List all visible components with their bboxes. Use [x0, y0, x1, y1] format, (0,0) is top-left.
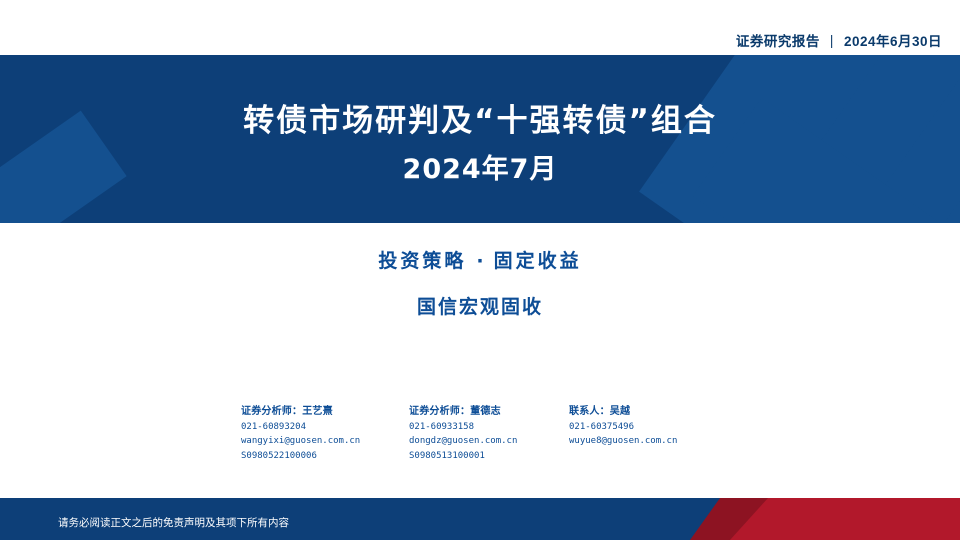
page-subtitle: 2024年7月 — [0, 147, 960, 186]
footer-accent-red — [730, 498, 960, 540]
category-fixed-income: 固定收益 — [494, 250, 582, 272]
category-separator-dot: · — [466, 250, 493, 272]
analyst-name: 证券分析师：董德志 — [409, 405, 569, 420]
analyst-list: 证券分析师：王艺熹 021-60893204 wangyixi@guosen.c… — [0, 405, 960, 463]
report-type-label: 证券研究报告 — [736, 30, 820, 50]
analyst-name: 联系人：吴越 — [569, 405, 719, 420]
analyst-cert: S0980522100006 — [241, 449, 409, 464]
analyst-phone: 021-60375496 — [569, 420, 719, 435]
analyst-email: wuyue8@guosen.com.cn — [569, 434, 719, 449]
report-date: 2024年6月30日 — [844, 30, 942, 50]
analyst-name: 证券分析师：王艺熹 — [241, 405, 409, 420]
footer-bar: 请务必阅读正文之后的免责声明及其项下所有内容 — [0, 498, 960, 540]
footer-disclaimer: 请务必阅读正文之后的免责声明及其项下所有内容 — [58, 515, 289, 530]
page-title: 转债市场研判及“十强转债”组合 — [0, 95, 960, 140]
header-divider: | — [828, 33, 836, 48]
analyst-phone: 021-60933158 — [409, 420, 569, 435]
analyst-email: wangyixi@guosen.com.cn — [241, 434, 409, 449]
analyst-entry: 证券分析师：董德志 021-60933158 dongdz@guosen.com… — [409, 405, 569, 463]
title-banner: 转债市场研判及“十强转债”组合 2024年7月 — [0, 55, 960, 223]
report-header: 证券研究报告 | 2024年6月30日 — [736, 30, 942, 50]
analyst-email: dongdz@guosen.com.cn — [409, 434, 569, 449]
analyst-entry: 联系人：吴越 021-60375496 wuyue8@guosen.com.cn — [569, 405, 719, 463]
analyst-phone: 021-60893204 — [241, 420, 409, 435]
category-line: 投资策略·固定收益 — [0, 246, 960, 273]
category-strategy: 投资策略 — [378, 250, 466, 272]
team-name: 国信宏观固收 — [0, 292, 960, 319]
analyst-entry: 证券分析师：王艺熹 021-60893204 wangyixi@guosen.c… — [241, 405, 409, 463]
analyst-cert: S0980513100001 — [409, 449, 569, 464]
slide-root: 证券研究报告 | 2024年6月30日 转债市场研判及“十强转债”组合 2024… — [0, 0, 960, 540]
